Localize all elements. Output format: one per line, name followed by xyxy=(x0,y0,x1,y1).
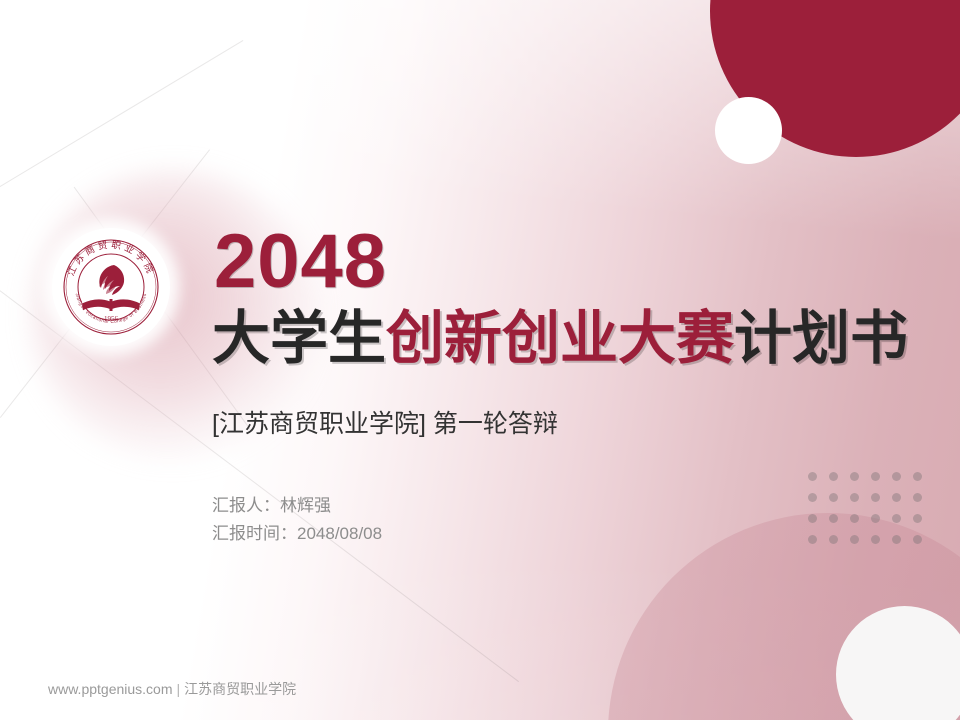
grid-dot xyxy=(913,535,922,544)
grid-dot xyxy=(850,493,859,502)
decorative-dot-grid xyxy=(808,472,934,556)
grid-dot xyxy=(892,493,901,502)
grid-dot xyxy=(850,472,859,481)
decorative-white-circle-top xyxy=(715,97,782,164)
subtitle: [江苏商贸职业学院] 第一轮答辩 xyxy=(212,408,558,440)
university-logo: 1956 江苏商贸职业学院 Jiangsu Vocational College… xyxy=(52,228,170,346)
main-title-part-2: 创新创业大赛 xyxy=(386,306,734,371)
grid-dot xyxy=(871,472,880,481)
year-heading: 2048 xyxy=(214,224,387,300)
grid-dot xyxy=(913,472,922,481)
grid-dot xyxy=(808,514,817,523)
grid-dot xyxy=(808,472,817,481)
grid-dot xyxy=(871,514,880,523)
main-title-part-1: 大学生 xyxy=(212,306,386,371)
grid-dot xyxy=(892,472,901,481)
footer-site: www.pptgenius.com xyxy=(48,681,173,697)
footer: www.pptgenius.com|江苏商贸职业学院 xyxy=(48,680,296,698)
grid-dot xyxy=(850,535,859,544)
presentation-meta: 汇报人：林辉强 汇报时间：2048/08/08 xyxy=(212,492,382,548)
grid-dot xyxy=(829,514,838,523)
grid-dot xyxy=(871,535,880,544)
grid-dot xyxy=(913,514,922,523)
grid-dot xyxy=(892,514,901,523)
grid-dot xyxy=(850,514,859,523)
grid-dot xyxy=(808,493,817,502)
grid-dot xyxy=(829,535,838,544)
main-title-part-3: 计划书 xyxy=(734,306,908,371)
grid-dot xyxy=(808,535,817,544)
grid-dot xyxy=(892,535,901,544)
date-line: 汇报时间：2048/08/08 xyxy=(212,520,382,548)
presentation-title-slide: 1956 江苏商贸职业学院 Jiangsu Vocational College… xyxy=(0,0,960,720)
grid-dot xyxy=(871,493,880,502)
university-seal-icon: 1956 江苏商贸职业学院 Jiangsu Vocational College… xyxy=(52,228,170,346)
footer-separator: | xyxy=(173,681,185,697)
grid-dot xyxy=(913,493,922,502)
footer-organization: 江苏商贸职业学院 xyxy=(184,681,296,697)
presenter-line: 汇报人：林辉强 xyxy=(212,492,382,520)
grid-dot xyxy=(829,472,838,481)
grid-dot xyxy=(829,493,838,502)
main-title: 大学生创新创业大赛计划书 xyxy=(212,307,908,371)
